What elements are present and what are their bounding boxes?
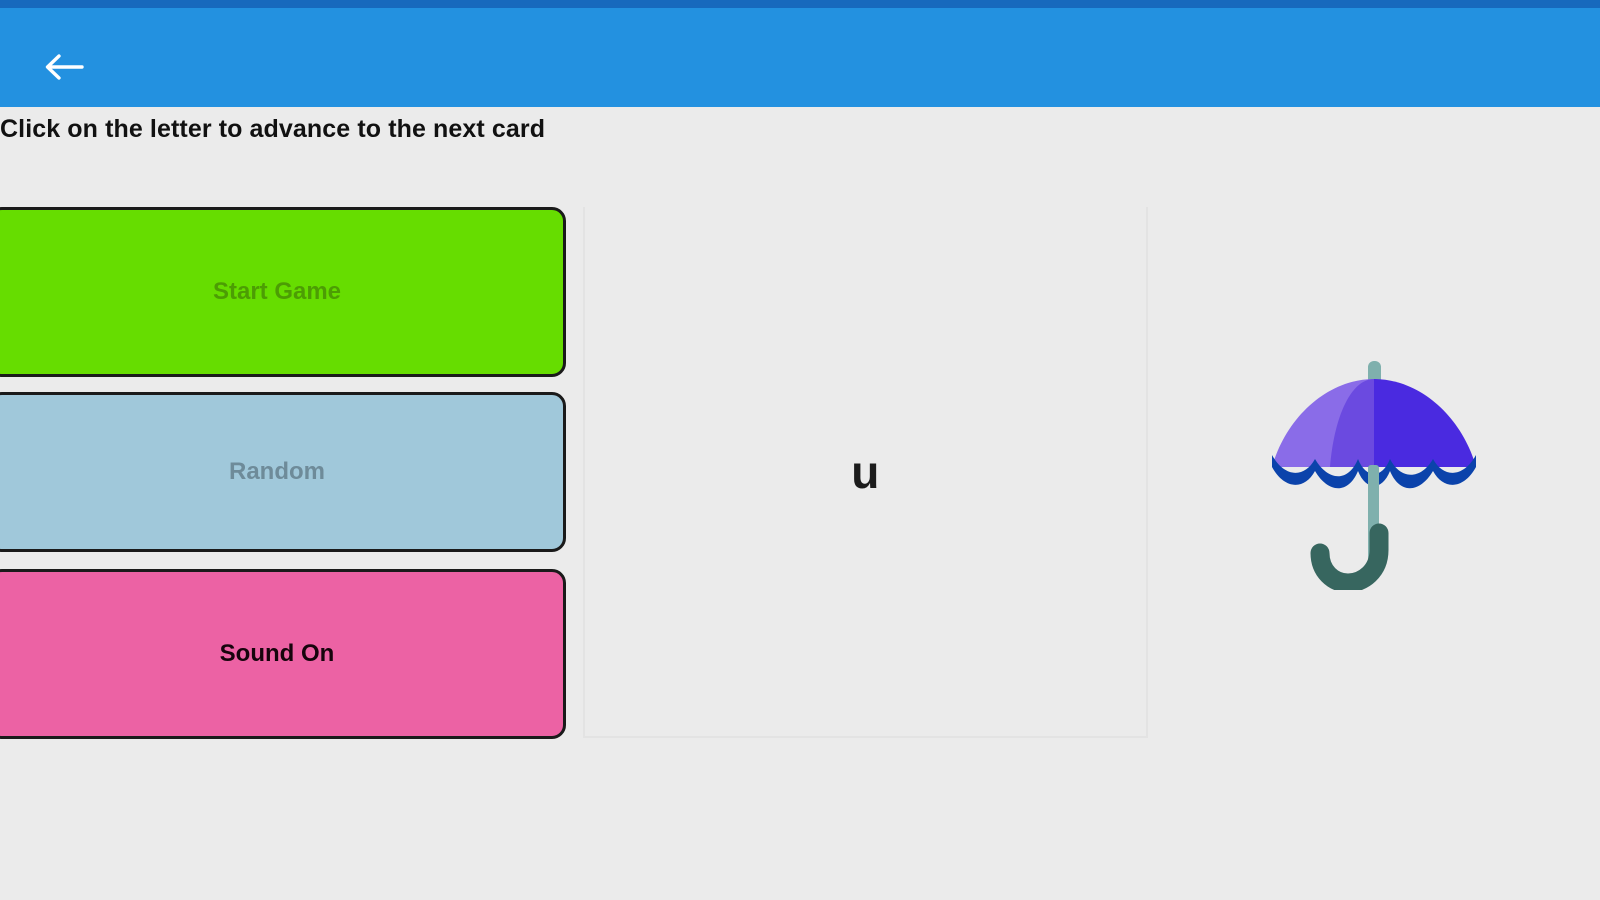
- sound-toggle-button[interactable]: Sound On: [0, 569, 566, 739]
- random-button[interactable]: Random: [0, 392, 566, 552]
- app-root: Click on the letter to advance to the ne…: [0, 0, 1600, 900]
- random-button-label: Random: [229, 458, 325, 486]
- instruction-text: Click on the letter to advance to the ne…: [0, 115, 1000, 144]
- back-button[interactable]: [28, 38, 96, 96]
- start-game-button[interactable]: Start Game: [0, 207, 566, 377]
- controls-column: Start Game Random Sound On: [0, 207, 568, 738]
- umbrella-icon: [1245, 353, 1505, 593]
- back-arrow-icon: [40, 49, 84, 85]
- app-bar: [0, 8, 1600, 107]
- letter-card-panel[interactable]: u: [583, 207, 1148, 738]
- card-board: Start Game Random Sound On u: [0, 207, 1600, 738]
- start-game-button-label: Start Game: [213, 278, 341, 306]
- letter-display[interactable]: u: [851, 449, 880, 495]
- picture-card-panel[interactable]: [1150, 207, 1600, 738]
- status-bar-strip: [0, 0, 1600, 8]
- sound-toggle-button-label: Sound On: [220, 640, 335, 668]
